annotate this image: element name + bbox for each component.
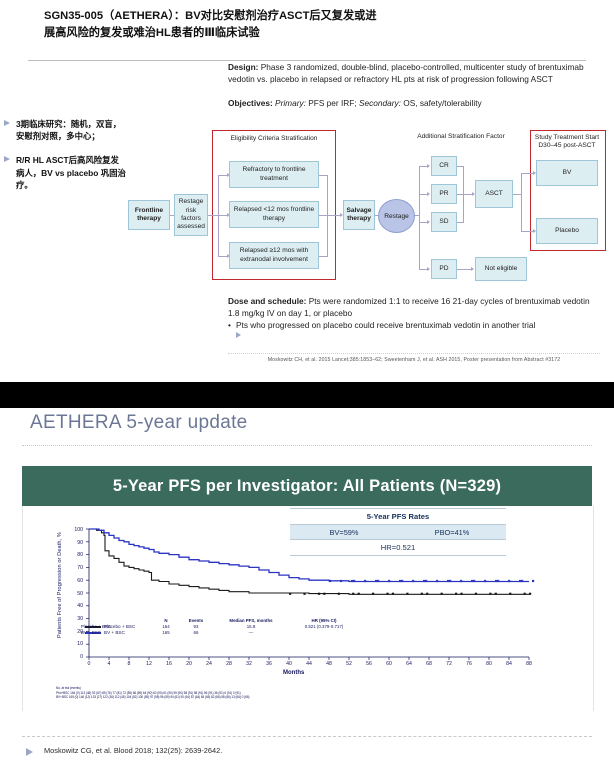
study-treatment-label: Study Treatment Start D30–45 post-ASCT xyxy=(534,134,600,150)
connector xyxy=(456,194,473,195)
x-tick: 4 xyxy=(103,661,115,667)
eligibility-criteria-label: Eligibility Criteria Stratification xyxy=(220,135,328,143)
pfs-hr-value: HR=0.521 xyxy=(290,540,506,556)
connector xyxy=(327,215,341,216)
x-tick: 40 xyxy=(283,661,295,667)
page-title-line1: SGN35-005（AETHERA）：BV对比安慰剂治疗ASCT后又复发或进 xyxy=(44,8,584,25)
x-tick: 76 xyxy=(463,661,475,667)
additional-stratification-label: Additional Stratification Factor xyxy=(411,133,511,141)
left-bullet-1: 3期临床研究：随机，双盲，安慰剂对照，多中心； xyxy=(2,118,126,142)
dose-and-schedule-block: Dose and schedule: Pts were randomized 1… xyxy=(228,296,600,320)
slide2-citation: Moskowitz CG, et al. Blood 2018; 132(25)… xyxy=(44,746,222,755)
stats-events-bv: 66 xyxy=(179,630,213,636)
objectives-label: Objectives: xyxy=(228,98,273,108)
x-tick: 56 xyxy=(363,661,375,667)
design-block: Design: Phase 3 randomized, double-blind… xyxy=(228,62,592,85)
left-bullet-1-text: 3期临床研究：随机，双盲，安慰剂对照，多中心； xyxy=(16,119,121,141)
connector xyxy=(419,166,420,270)
node-restage-risk-factors: Restage risk factors assessed xyxy=(174,194,208,236)
arrow-icon xyxy=(471,267,474,271)
x-axis-label: Months xyxy=(283,670,304,676)
node-eligibility-refractory: Refractory to frontline treatment xyxy=(229,161,319,188)
node-cr: CR xyxy=(431,156,457,176)
title-divider xyxy=(28,60,586,61)
pfs-rates-row: BV=59% PBO=41% xyxy=(290,524,506,540)
no-at-risk-row-bv: BV+BSC 165 (0) 146 (12) 133 (27) 122 (36… xyxy=(56,695,249,700)
objectives-primary-label: Primary: xyxy=(275,98,306,108)
slide1-citation: Moskowitz CH, et al. 2015 Lancet;385:185… xyxy=(228,357,600,363)
x-tick: 0 xyxy=(83,661,95,667)
dose-label: Dose and schedule: xyxy=(228,296,306,306)
x-tick: 28 xyxy=(223,661,235,667)
objectives-secondary-label: Secondary: xyxy=(359,98,401,108)
x-tick: 80 xyxy=(483,661,495,667)
node-salvage-therapy: Salvage therapy xyxy=(343,200,375,230)
design-text: Phase 3 randomized, double-blind, placeb… xyxy=(228,62,584,84)
arrow-icon xyxy=(427,220,430,224)
node-asct: ASCT xyxy=(475,180,513,208)
x-tick: 48 xyxy=(323,661,335,667)
pfs-bv-value: BV=59% xyxy=(290,525,398,539)
slide-separator-band xyxy=(0,382,614,408)
node-bv: BV xyxy=(536,160,598,186)
arrow-icon xyxy=(427,192,430,196)
x-tick: 32 xyxy=(243,661,255,667)
citation-divider xyxy=(228,353,600,355)
objectives-block: Objectives: Primary: PFS per IRF; Second… xyxy=(228,98,592,110)
x-tick: 16 xyxy=(163,661,175,667)
x-tick: 52 xyxy=(343,661,355,667)
stats-name-bv: BV + BSC xyxy=(81,630,153,636)
x-tick: 84 xyxy=(503,661,515,667)
node-pd: PD xyxy=(431,259,457,279)
node-placebo: Placebo xyxy=(536,218,598,244)
page-title-line2: 展高风险的复发或难治HL患者的Ⅲ临床试验 xyxy=(44,25,584,42)
node-eligibility-relapsed-ge12: Relapsed ≥12 mos with extranodal involve… xyxy=(229,242,319,269)
chart-header-text: 5-Year PFS per Investigator: All Patient… xyxy=(22,477,592,496)
dose-sub-bullet-text: Pts who progressed on placebo could rece… xyxy=(236,320,535,330)
x-tick: 72 xyxy=(443,661,455,667)
arrow-icon xyxy=(427,267,430,271)
no-at-risk-table: No. at risk (events) Pbo+BSC 164 (0) 113… xyxy=(56,686,249,700)
summary-stats-table: N Events Median PFS, months HR (95% CI) … xyxy=(81,618,361,636)
x-tick: 68 xyxy=(423,661,435,667)
triangle-bullet-icon xyxy=(4,156,10,162)
x-tick: 60 xyxy=(383,661,395,667)
connector xyxy=(521,173,522,232)
left-bullet-2: R/R HL ASCT后高风险复发病人，BV vs placebo 巩固治疗。 xyxy=(2,154,126,191)
x-tick: 8 xyxy=(123,661,135,667)
left-bullet-2-text: R/R HL ASCT后高风险复发病人，BV vs placebo 巩固治疗。 xyxy=(16,155,126,189)
study-flow-diagram: Eligibility Criteria Stratification Addi… xyxy=(128,128,610,290)
x-tick: 88 xyxy=(523,661,535,667)
x-tick: 20 xyxy=(183,661,195,667)
stats-n-bv: 165 xyxy=(153,630,179,636)
x-tick: 24 xyxy=(203,661,215,667)
x-tick: 44 xyxy=(303,661,315,667)
design-label: Design: xyxy=(228,62,258,72)
node-sd: SD xyxy=(431,212,457,232)
connector xyxy=(456,269,472,270)
node-frontline-therapy: Frontline therapy xyxy=(128,200,170,230)
dose-sub-bullet: • Pts who progressed on placebo could re… xyxy=(236,320,600,332)
objectives-primary-text: PFS per IRF; xyxy=(306,98,359,108)
triangle-bullet-icon xyxy=(26,748,33,756)
node-not-eligible: Not eligible xyxy=(475,257,527,281)
node-pr: PR xyxy=(431,184,457,204)
left-bullet-column: 3期临床研究：随机，双盲，安慰剂对照，多中心； R/R HL ASCT后高风险复… xyxy=(2,118,126,203)
stats-median-bv: — xyxy=(213,630,289,636)
footer-divider xyxy=(22,736,592,737)
x-tick: 12 xyxy=(143,661,155,667)
stats-hr-bv xyxy=(289,630,359,636)
arrow-icon xyxy=(427,164,430,168)
pfs-rates-box: 5-Year PFS Rates BV=59% PBO=41% HR=0.521 xyxy=(290,508,506,556)
pfs-pbo-value: PBO=41% xyxy=(398,525,506,539)
pfs-box-title: 5-Year PFS Rates xyxy=(290,509,506,524)
slide-top: SGN35-005（AETHERA）：BV对比安慰剂治疗ASCT后又复发或进 展… xyxy=(0,0,614,382)
triangle-bullet-icon xyxy=(4,120,10,126)
page-title: SGN35-005（AETHERA）：BV对比安慰剂治疗ASCT后又复发或进 展… xyxy=(44,8,584,42)
dot-bullet-icon: • xyxy=(228,320,231,332)
objectives-secondary-text: OS, safety/tolerability xyxy=(401,98,482,108)
node-eligibility-relapsed-lt12: Relapsed <12 mos frontline therapy xyxy=(229,201,319,228)
x-tick: 36 xyxy=(263,661,275,667)
chart-header-banner: 5-Year PFS per Investigator: All Patient… xyxy=(22,466,592,506)
x-tick: 64 xyxy=(403,661,415,667)
connector xyxy=(207,215,218,216)
triangle-bullet-icon xyxy=(236,332,241,338)
section-title: AETHERA 5-year update xyxy=(30,412,248,434)
node-restage: Restage xyxy=(378,199,415,233)
summary-stats-row: BV + BSC 165 66 — xyxy=(81,630,361,636)
section-title-divider xyxy=(22,445,592,446)
